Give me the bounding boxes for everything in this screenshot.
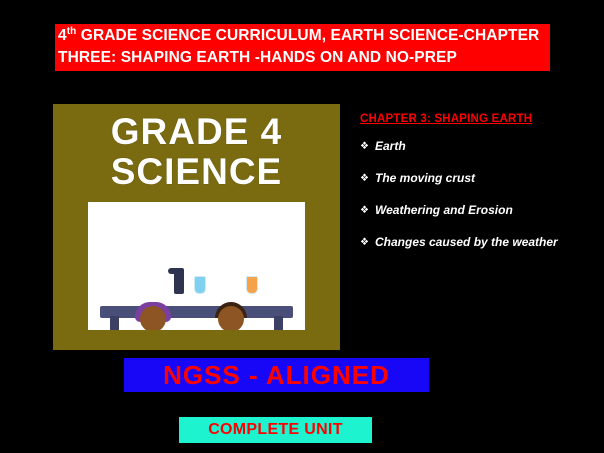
cover-title: GRADE 4 SCIENCE [53, 112, 340, 192]
slide-title-grade-number: 4 [58, 27, 67, 44]
cover-illustration [88, 202, 305, 330]
list-item-label: Weathering and Erosion [375, 203, 513, 218]
flask-orange-icon [246, 276, 258, 294]
lab-table-leg-right [274, 316, 283, 330]
diamond-bullet-icon: ❖ [360, 139, 375, 154]
cover-title-line-1: GRADE 4 [53, 112, 340, 152]
slide-title-ordinal-suffix: th [67, 26, 77, 37]
list-item-label: The moving crust [375, 171, 475, 186]
list-item: ❖ Earth [360, 139, 600, 154]
list-item-label: Earth [375, 139, 406, 154]
list-item: ❖ The moving crust [360, 171, 600, 186]
student-boy-head [218, 306, 244, 330]
chapter-contents: CHAPTER 3: SHAPING EARTH ❖ Earth ❖ The m… [360, 113, 600, 267]
microscope-icon [174, 268, 184, 294]
list-item-label: Changes caused by the weather [375, 235, 558, 250]
diamond-bullet-icon: ❖ [360, 171, 375, 186]
ngss-aligned-badge: NGSS - ALIGNED [124, 358, 429, 392]
list-item: ❖ Weathering and Erosion [360, 203, 600, 218]
diamond-bullet-icon: ❖ [360, 203, 375, 218]
flask-blue-icon [194, 276, 206, 294]
chapter-heading: CHAPTER 3: SHAPING EARTH [360, 113, 600, 125]
lab-table [100, 306, 293, 318]
complete-unit-badge: COMPLETE UNIT [179, 417, 372, 443]
slide-title-text: GRADE SCIENCE CURRICULUM, EARTH SCIENCE-… [58, 27, 539, 66]
student-girl-head [140, 306, 166, 330]
cover-title-line-2: SCIENCE [53, 152, 340, 192]
lab-table-leg-left [110, 316, 119, 330]
diamond-bullet-icon: ❖ [360, 235, 375, 250]
cover-card: GRADE 4 SCIENCE [53, 104, 340, 350]
list-item: ❖ Changes caused by the weather [360, 235, 600, 250]
slide-title-banner: 4th GRADE SCIENCE CURRICULUM, EARTH SCIE… [55, 24, 550, 71]
